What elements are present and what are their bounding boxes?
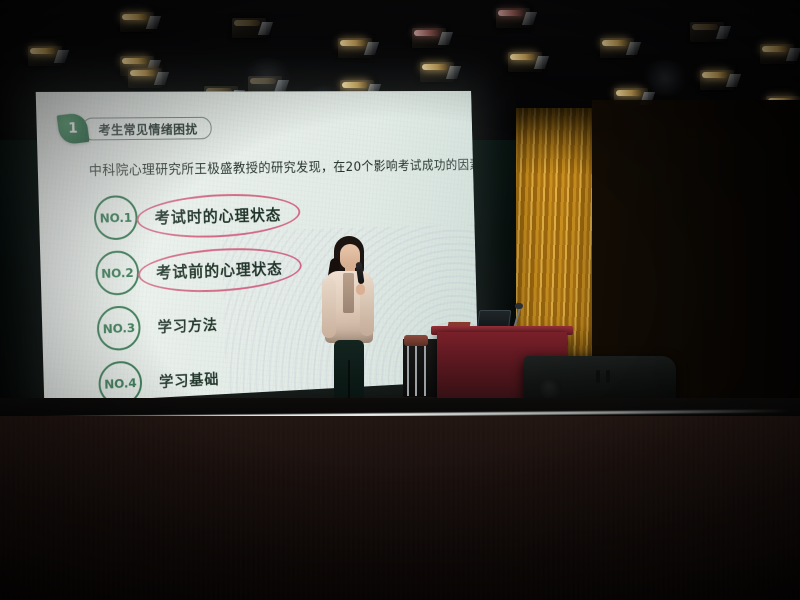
presenter-hand [356,284,365,295]
chair-leg [424,346,426,396]
rank-circle: NO.3 [96,305,141,351]
screenshot-root: 1 考生常见情绪困扰 中科院心理研究所王极盛教授的研究发现，在20个影响考试成功… [0,0,800,600]
stage-light-fixture [420,62,454,82]
factor-item: NO.2考试前的心理状态 [95,245,283,296]
factor-text: 考试时的心理状态 [154,202,281,228]
speaker-port [596,370,600,383]
factor-text: 学习方法 [157,313,218,336]
microphone-head-icon [515,303,523,309]
slide-badge: 1 考生常见情绪困扰 [58,113,212,144]
apron-texture [0,416,800,600]
stage-light-fixture [508,52,542,72]
factor-item: NO.3学习方法 [96,299,284,352]
presenter-left-arm [322,278,336,338]
speaker-cone [540,378,562,400]
stage-light-fixture [128,68,162,88]
chair-leg [407,346,409,396]
slide-lead-text: 中科院心理研究所王极盛教授的研究发现，在20个影响考试成功的因素当中，排名前4位… [89,154,458,179]
badge-title: 考生常见情绪困扰 [82,116,212,140]
factor-text: 学习基础 [159,368,220,392]
chair-seat [404,335,428,346]
stage-light-fixture [690,22,724,42]
rank-circle: NO.2 [95,250,140,296]
rank-label: NO.2 [101,265,134,281]
ranked-factor-list: NO.1考试时的心理状态NO.2考试前的心理状态NO.3学习方法NO.4学习基础 [93,191,286,404]
stage-light-fixture [412,28,446,48]
factor-item: NO.1考试时的心理状态 [93,191,281,240]
presenter [316,236,382,414]
light-glow [640,60,690,96]
presenter-lapel [343,273,354,313]
rank-circle: NO.1 [93,195,138,240]
stage-light-fixture [496,8,530,28]
stage-light-fixture [28,46,62,66]
chair-leg [415,346,417,396]
stage-light-fixture [600,38,634,58]
stage-light-fixture [760,44,794,64]
badge-number: 1 [68,122,78,136]
stage-light-fixture [700,70,734,90]
rank-label: NO.4 [104,375,137,391]
folding-chair [404,335,430,397]
rank-label: NO.1 [99,209,132,225]
stage-light-fixture [338,38,372,58]
stage-light-fixture [120,12,154,32]
leaf-number-icon: 1 [57,112,90,145]
rank-label: NO.3 [102,320,135,336]
speaker-port [606,370,610,383]
stage-light-fixture [232,18,266,38]
stage-apron [0,416,800,600]
factor-text: 考试前的心理状态 [156,256,283,283]
